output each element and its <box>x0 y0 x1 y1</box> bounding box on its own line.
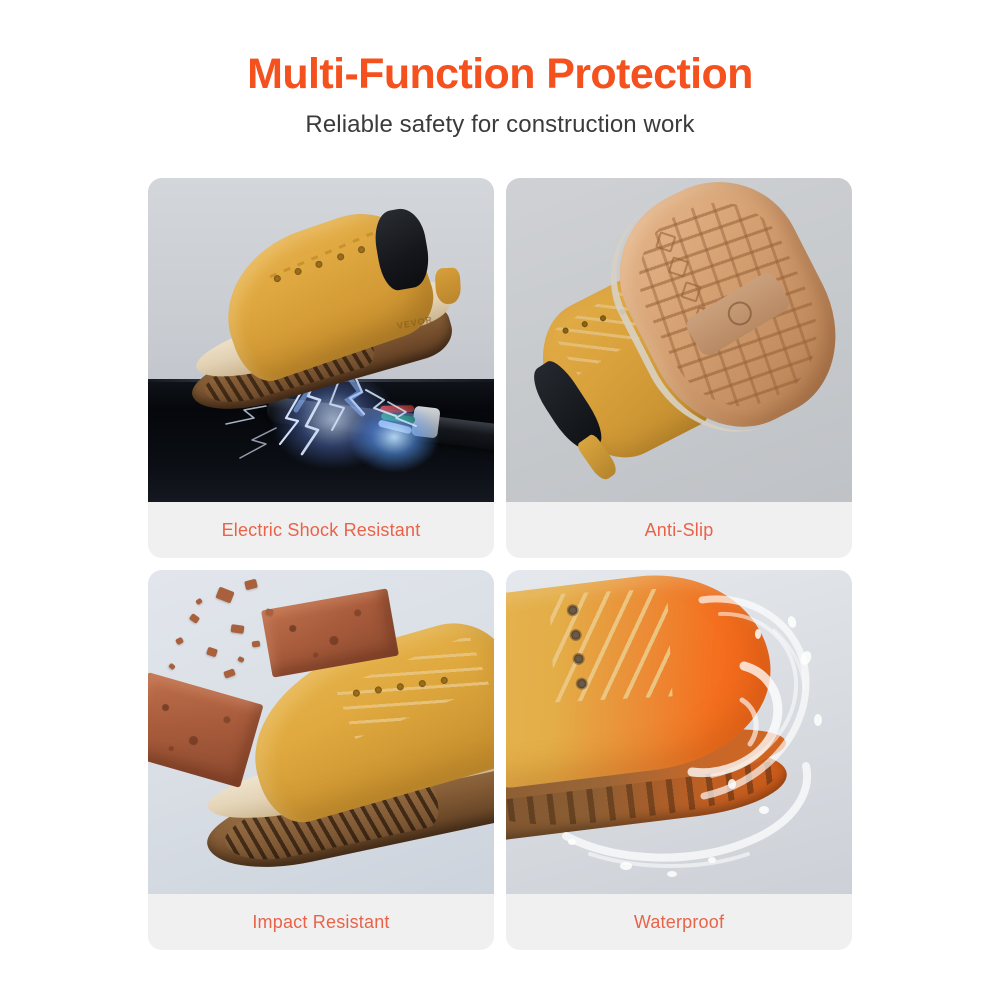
feature-label-text: Anti-Slip <box>645 520 714 541</box>
feature-image-waterproof <box>506 570 852 894</box>
feature-card-waterproof[interactable]: Waterproof <box>506 570 852 950</box>
boot-outsole <box>506 178 852 502</box>
feature-card-impact-resistant[interactable]: Impact Resistant <box>148 570 494 950</box>
feature-label-text: Electric Shock Resistant <box>222 520 421 541</box>
feature-image-anti-slip <box>506 178 852 502</box>
boot-waterproof <box>506 570 840 882</box>
header: Multi-Function Protection Reliable safet… <box>0 0 1000 139</box>
feature-label-waterproof: Waterproof <box>506 894 852 950</box>
feature-card-anti-slip[interactable]: Anti-Slip <box>506 178 852 558</box>
feature-label-anti-slip: Anti-Slip <box>506 502 852 558</box>
feature-card-electric-shock-resistant[interactable]: VEVOR Electric Shock Resistant <box>148 178 494 558</box>
feature-label-text: Waterproof <box>634 912 724 933</box>
infographic-page: Multi-Function Protection Reliable safet… <box>0 0 1000 1000</box>
feature-image-electric-shock-resistant: VEVOR <box>148 178 494 502</box>
page-subtitle: Reliable safety for construction work <box>0 111 1000 139</box>
feature-image-impact-resistant <box>148 570 494 894</box>
feature-label-electric-shock-resistant: Electric Shock Resistant <box>148 502 494 558</box>
page-title: Multi-Function Protection <box>0 52 1000 97</box>
feature-label-text: Impact Resistant <box>252 912 389 933</box>
feature-card-grid: VEVOR Electric Shock Resistant <box>148 178 852 950</box>
feature-label-impact-resistant: Impact Resistant <box>148 894 494 950</box>
